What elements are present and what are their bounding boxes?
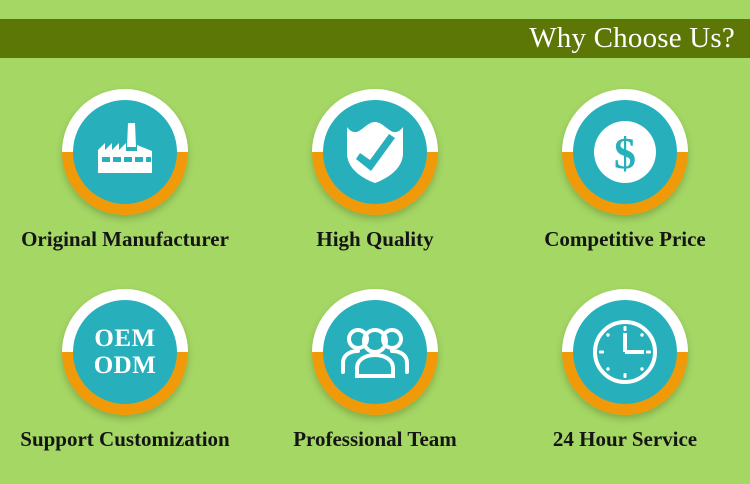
header-bar: Why Choose Us? (0, 19, 750, 58)
oem-odm-text-icon: OEM ODM (94, 325, 157, 379)
badge-ring: OEM ODM (62, 289, 188, 415)
feature-item-competitive-price[interactable]: $ Competitive Price (500, 66, 750, 266)
badge-inner: OEM ODM (73, 300, 177, 404)
feature-label: Competitive Price (544, 228, 706, 251)
badge-inner (323, 100, 427, 204)
badge-inner: $ (573, 100, 677, 204)
feature-grid: Original Manufacturer High Quality (0, 66, 750, 484)
feature-label: Support Customization (20, 428, 229, 451)
clock-icon (590, 317, 660, 387)
oem-label: OEM (94, 325, 155, 352)
feature-label: High Quality (316, 228, 433, 251)
odm-label: ODM (94, 352, 157, 379)
badge-ring: $ (562, 89, 688, 215)
page-title: Why Choose Us? (529, 24, 750, 53)
feature-item-high-quality[interactable]: High Quality (250, 66, 500, 266)
factory-icon (90, 121, 160, 183)
feature-label: Professional Team (293, 428, 457, 451)
badge-ring (562, 289, 688, 415)
shield-check-icon (343, 119, 407, 185)
feature-item-support-customization[interactable]: OEM ODM Support Customization (0, 266, 250, 466)
feature-item-24-hour-service[interactable]: 24 Hour Service (500, 266, 750, 466)
badge-inner (73, 100, 177, 204)
badge-ring (62, 89, 188, 215)
why-choose-us-poster: Why Choose Us? (0, 0, 750, 484)
feature-item-professional-team[interactable]: Professional Team (250, 266, 500, 466)
feature-label: Original Manufacturer (21, 228, 229, 251)
badge-inner (323, 300, 427, 404)
dollar-coin-icon: $ (592, 119, 658, 185)
svg-text:$: $ (614, 129, 636, 178)
badge-inner (573, 300, 677, 404)
badge-ring (312, 89, 438, 215)
badge-ring (312, 289, 438, 415)
feature-label: 24 Hour Service (553, 428, 697, 451)
feature-item-original-manufacturer[interactable]: Original Manufacturer (0, 66, 250, 266)
people-group-icon (339, 323, 411, 381)
